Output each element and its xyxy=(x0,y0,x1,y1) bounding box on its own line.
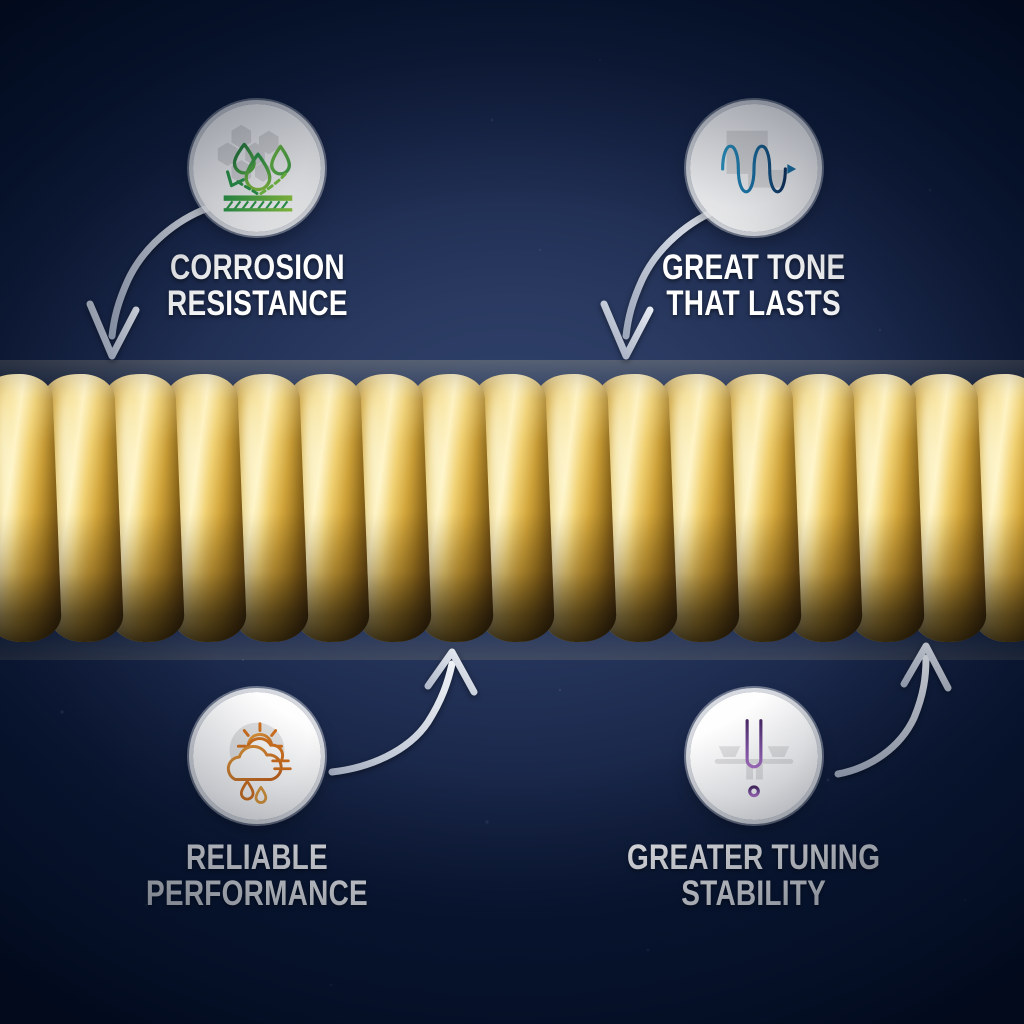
label-line: STABILITY xyxy=(627,876,880,912)
arrow-bottom-left xyxy=(322,646,502,786)
gold-wound-guitar-string xyxy=(0,374,1024,642)
sun-cloud-rain-weather-icon xyxy=(208,707,306,805)
label-line: THAT LASTS xyxy=(662,286,845,322)
string-winding xyxy=(0,374,62,642)
feature-icon-great-tone-that-lasts[interactable] xyxy=(690,104,818,232)
infographic-stage: CORROSION RESISTANCE GREAT TONE THAT LAS… xyxy=(0,0,1024,1024)
label-line: GREAT TONE xyxy=(662,250,845,286)
tuning-fork-balance-icon xyxy=(705,707,803,805)
label-line: CORROSION xyxy=(167,250,348,286)
water-repellent-coating-icon xyxy=(208,119,306,217)
arrow-bottom-right xyxy=(826,638,1006,788)
label-line: PERFORMANCE xyxy=(146,876,368,912)
feature-label-corrosion-resistance: CORROSION RESISTANCE xyxy=(167,250,348,323)
label-line: GREATER TUNING xyxy=(627,840,880,876)
feature-label-reliable-performance: RELIABLE PERFORMANCE xyxy=(146,840,368,913)
label-line: RESISTANCE xyxy=(167,286,348,322)
feature-label-greater-tuning-stability: GREATER TUNING STABILITY xyxy=(627,840,880,913)
feature-icon-greater-tuning-stability[interactable] xyxy=(690,692,818,820)
feature-icon-corrosion-resistance[interactable] xyxy=(193,104,321,232)
label-line: RELIABLE xyxy=(146,840,368,876)
feature-label-great-tone-that-lasts: GREAT TONE THAT LASTS xyxy=(662,250,845,323)
sound-wave-icon xyxy=(705,119,803,217)
feature-icon-reliable-performance[interactable] xyxy=(193,692,321,820)
